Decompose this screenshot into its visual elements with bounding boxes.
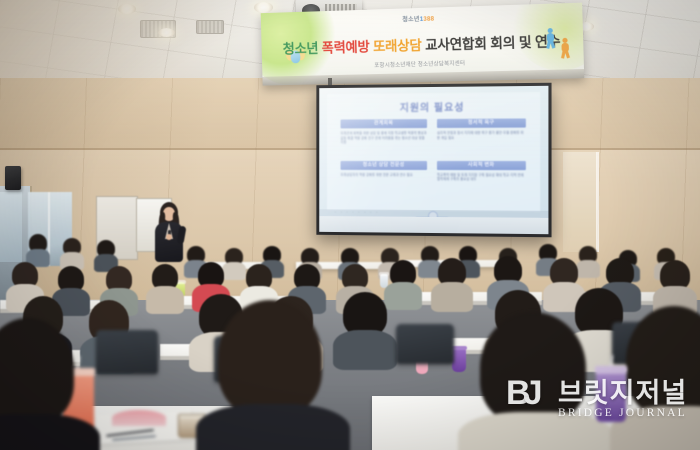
attendee-foreground-right: [470, 312, 598, 450]
slide-card: 사회적 변화 학교폭력 예방 및 또래 지지망 구축 필요성 확대 학교·지역 …: [437, 161, 526, 198]
attendee: [388, 260, 418, 306]
slide-card-header: 관계회복: [341, 119, 427, 128]
photo-scene: 청소년1388 청소년 폭력예방 또래상담 교사연합회 회의 및 연수 포항시청…: [0, 0, 700, 450]
slide-content: 지원의 필요성 관계회복 또래관계 회복을 위한 상담 및 중재 지원 학교생활…: [327, 92, 540, 212]
chair: [396, 324, 454, 364]
banner-title-part-4: 교사연합회 회의 및 연수: [425, 34, 561, 53]
wall-light-strip: [563, 152, 597, 252]
tumbler-purple-front: [596, 370, 626, 422]
chair: [96, 330, 158, 374]
attendee: [578, 246, 598, 276]
attendee: [150, 264, 180, 310]
attendee: [28, 234, 48, 264]
slide-card-grid: 관계회복 또래관계 회복을 위한 상담 및 중재 지원 학교생활 적응력 향상과…: [341, 118, 526, 197]
attendee-foreground-far-right: [620, 306, 700, 450]
projection-screen: 지원의 필요성 관계회복 또래관계 회복을 위한 상담 및 중재 지원 학교생활…: [319, 86, 548, 234]
slide-card-body: 또래상담자의 역량 강화를 위한 전문 교육과 연수 필요: [341, 172, 427, 177]
banner-logo-text: 청소년: [402, 17, 420, 24]
slide-card-header: 사회적 변화: [437, 161, 526, 170]
door-glass: [0, 192, 22, 262]
banner-runner-icon-1: [545, 28, 556, 49]
handout-graphic: [112, 410, 166, 426]
slide-card: 정서적 욕구 심리적 안정과 정서 지지에 대한 욕구 증가 불안·우울 완화를…: [437, 118, 526, 155]
event-banner: 청소년1388 청소년 폭력예방 또래상담 교사연합회 회의 및 연수 포항시청…: [261, 3, 585, 86]
banner-logo-number-2: 388: [423, 17, 434, 23]
presenter: [152, 202, 186, 264]
slide-card: 청소년 상담 전문성 또래상담자의 역량 강화를 위한 전문 교육과 연수 필요: [341, 160, 427, 196]
attendee: [436, 258, 468, 308]
attendee-foreground-center: [210, 300, 334, 450]
slide-card-header: 청소년 상담 전문성: [341, 160, 427, 169]
slide-card: 관계회복 또래관계 회복을 위한 상담 및 중재 지원 학교생활 적응력 향상과…: [341, 119, 427, 156]
attendee: [62, 238, 82, 268]
screen-bottom-area: [319, 216, 548, 234]
attendee: [224, 248, 244, 278]
slide-card-body: 심리적 안정과 정서 지지에 대한 욕구 증가 불안·우울 완화를 위한 개입 …: [437, 131, 526, 141]
slide-card-body: 학교폭력 예방 및 또래 지지망 구축 필요성 확대 학교·지역 연계 협력체계…: [437, 173, 526, 182]
slide-title: 지원의 필요성: [327, 98, 540, 115]
banner-runner-icon-2: [560, 38, 571, 59]
slide-card-header: 정서적 욕구: [437, 118, 526, 128]
banner-title-part-3: 또래상담: [373, 38, 422, 54]
banner-title-part-2: 폭력예방: [322, 39, 370, 55]
wall-speaker-icon: [5, 166, 21, 190]
projection-screen-frame: 지원의 필요성 관계회복 또래관계 회복을 위한 상담 및 중재 지원 학교생활…: [316, 83, 551, 238]
attendee: [340, 292, 390, 364]
tumbler-purple: [452, 348, 466, 372]
attendee: [658, 260, 692, 312]
attendee-foreground-left: [0, 318, 84, 450]
screen-taskbar-text: · · · · · · · ·: [335, 210, 380, 214]
slide-card-body: 또래관계 회복을 위한 상담 및 중재 지원 학교생활 적응력 향상과 갈등 해…: [341, 131, 427, 145]
banner-title-part-1: 청소년: [283, 41, 319, 57]
